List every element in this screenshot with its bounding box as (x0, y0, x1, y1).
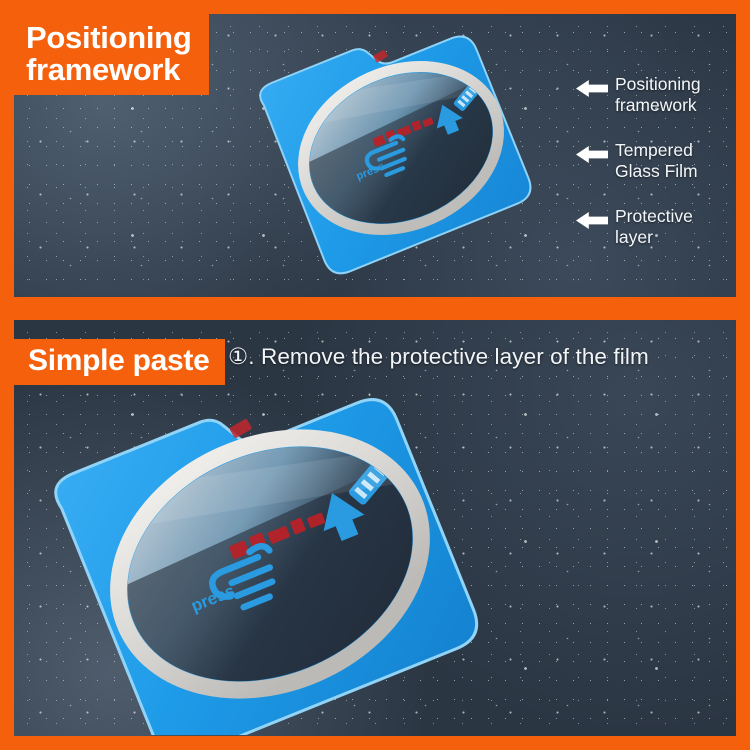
callout-tempered-glass-film: Tempered Glass Film (576, 140, 698, 181)
infographic-page: press Positioning framework Positioning … (0, 0, 750, 750)
callout-label: Positioning framework (615, 74, 701, 115)
callout-label: Tempered Glass Film (615, 140, 698, 181)
page-title-simple-paste: Simple paste (14, 339, 225, 385)
callout-positioning-framework: Positioning framework (576, 74, 701, 115)
panel-simple-paste: press Simple paste ①. Remove the protect… (14, 320, 736, 736)
panel-positioning-framework: press Positioning framework Positioning … (14, 14, 736, 297)
arrow-left-icon (576, 80, 608, 97)
arrow-left-icon (576, 146, 608, 163)
arrow-left-icon (576, 212, 608, 229)
callout-label: Protective layer (615, 206, 693, 247)
device-illustration-top: press (246, 28, 556, 290)
device-illustration-bottom: press (42, 390, 532, 735)
step-instruction-text: ①. Remove the protective layer of the fi… (228, 344, 649, 370)
page-title-positioning-framework: Positioning framework (14, 14, 209, 95)
callout-protective-layer: Protective layer (576, 206, 693, 247)
